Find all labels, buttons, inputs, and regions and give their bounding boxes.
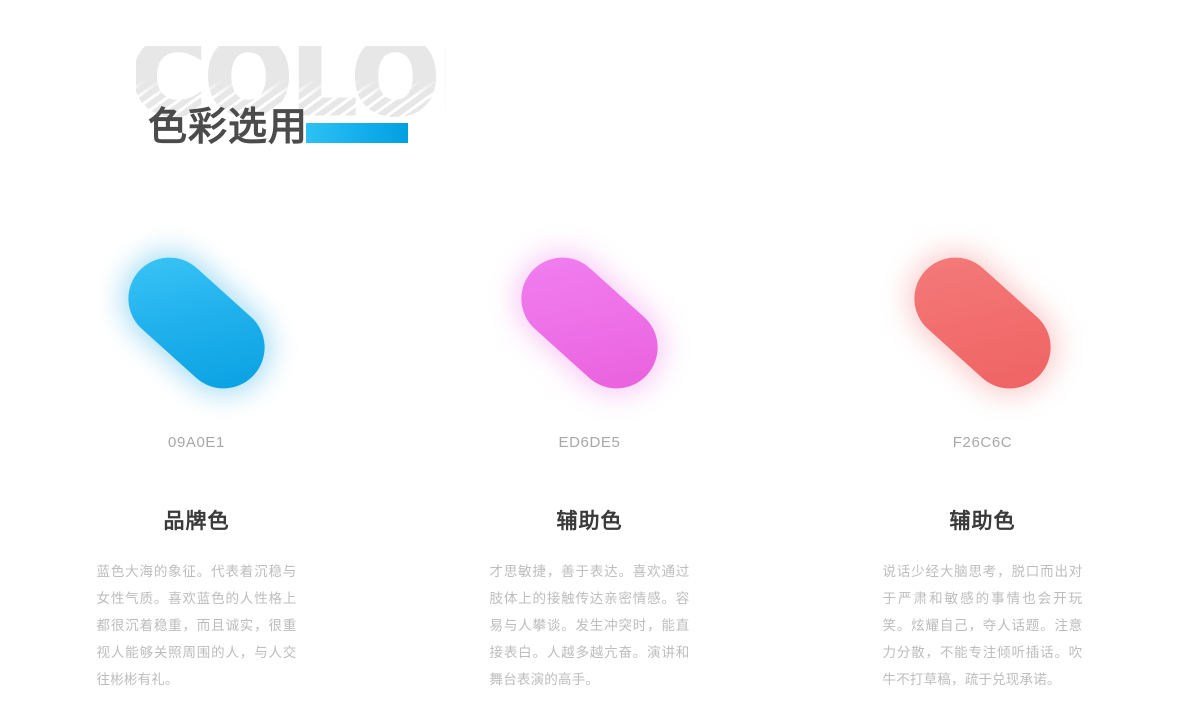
secondary-color-swatch-pink[interactable]: [504, 241, 674, 406]
secondary-color-swatch-red[interactable]: [897, 241, 1067, 406]
color-role-heading: 辅助色: [950, 505, 1016, 535]
swatch-wrapper: [898, 248, 1068, 398]
title-block: COLOR 色彩选用: [136, 46, 456, 171]
page-title-row: 色彩选用: [148, 108, 408, 149]
brand-color-swatch[interactable]: [111, 241, 281, 406]
color-description: 蓝色大海的象征。代表着沉稳与女性气质。喜欢蓝色的人性格上都很沉着稳重，而且诚实，…: [97, 558, 297, 693]
palette-column-1: 09A0E1 品牌色 蓝色大海的象征。代表着沉稳与女性气质。喜欢蓝色的人性格上都…: [0, 248, 393, 693]
color-description: 说话少经大脑思考，脱口而出对于严肃和敏感的事情也会开玩笑。炫耀自己，夺人话题。注…: [883, 558, 1083, 693]
palette-column-2: ED6DE5 辅助色 才思敏捷，善于表达。喜欢通过肢体上的接触传达亲密情感。容易…: [393, 248, 786, 693]
swatch-wrapper: [112, 248, 282, 398]
page-title: 色彩选用: [148, 108, 308, 149]
color-role-heading: 品牌色: [164, 505, 230, 535]
hex-code-label: ED6DE5: [559, 434, 621, 451]
color-description: 才思敏捷，善于表达。喜欢通过肢体上的接触传达亲密情感。容易与人攀谈。发生冲突时，…: [490, 558, 690, 693]
hex-code-label: 09A0E1: [168, 434, 225, 451]
hex-code-label: F26C6C: [953, 434, 1012, 451]
palette-columns: 09A0E1 品牌色 蓝色大海的象征。代表着沉稳与女性气质。喜欢蓝色的人性格上都…: [0, 248, 1179, 693]
palette-column-3: F26C6C 辅助色 说话少经大脑思考，脱口而出对于严肃和敏感的事情也会开玩笑。…: [786, 248, 1179, 693]
swatch-wrapper: [505, 248, 675, 398]
color-palette-slide: COLOR 色彩选用 09A0E1 品牌色 蓝色大海的象征。代表着沉稳与女性气质…: [0, 0, 1179, 704]
title-accent-bar: [306, 123, 408, 143]
color-role-heading: 辅助色: [557, 505, 623, 535]
